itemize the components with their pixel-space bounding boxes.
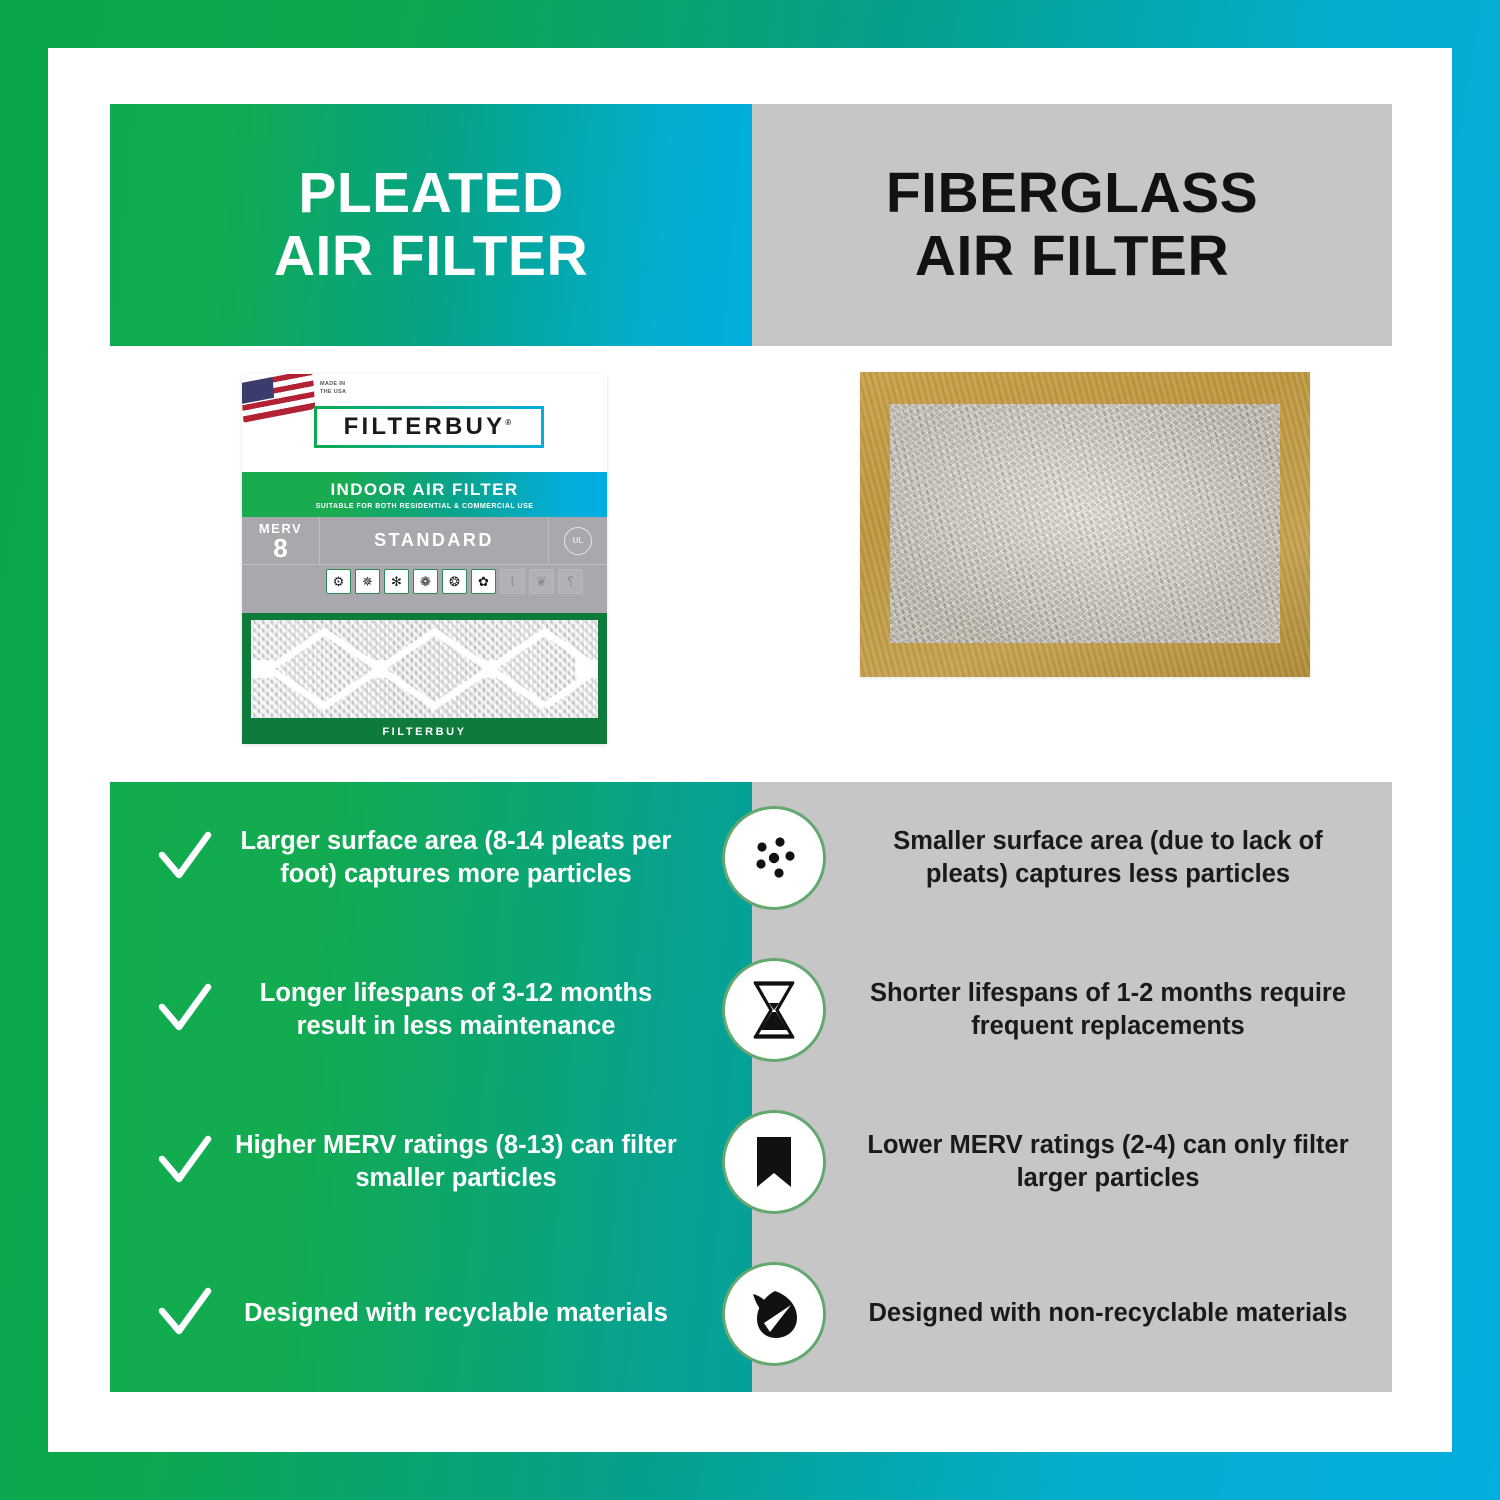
- ul-mark-icon: UL: [564, 527, 592, 555]
- row-left-cell: Designed with recyclable materials: [110, 1238, 752, 1390]
- pet-dander-icon: ✿: [471, 569, 496, 594]
- row-icon-badge: [722, 806, 826, 910]
- comparison-rows: Larger surface area (8-14 pleats per foo…: [110, 782, 1392, 1392]
- header-pleated-line2: AIR FILTER: [274, 225, 588, 288]
- fiberglass-mesh-media: [890, 404, 1280, 643]
- pleated-filter-product: MADE IN THE USA FILTERBUY® INDOOR AIR FI…: [242, 374, 607, 754]
- header-fiberglass: FIBERGLASS AIR FILTER: [752, 104, 1392, 346]
- row-left-cell: Larger surface area (8-14 pleats per foo…: [110, 782, 752, 934]
- product-image-row: MADE IN THE USA FILTERBUY® INDOOR AIR FI…: [110, 346, 1392, 782]
- fiberglass-cardboard-frame: [860, 372, 1310, 677]
- virus-icon: ⸮: [558, 569, 583, 594]
- leaf-icon: [745, 1285, 803, 1343]
- header-pleated-line1: PLEATED: [298, 161, 563, 225]
- check-icon: [148, 981, 222, 1039]
- row-right-text: Shorter lifespans of 1-2 months require …: [862, 977, 1392, 1043]
- row-right-text: Designed with non-recyclable materials: [862, 1297, 1392, 1330]
- row-left-cell: Higher MERV ratings (8-13) can filter sm…: [110, 1086, 752, 1238]
- dust-mite-icon: ✵: [355, 569, 380, 594]
- band-subtitle: SUITABLE FOR BOTH RESIDENTIAL & COMMERCI…: [316, 503, 534, 510]
- hourglass-icon: [751, 980, 797, 1040]
- fiberglass-filter-product: [860, 372, 1310, 677]
- row-right-cell: Shorter lifespans of 1-2 months require …: [752, 934, 1392, 1086]
- pleat-brand-label: FILTERBUY: [242, 726, 607, 738]
- header-pleated-title: PLEATED AIR FILTER: [274, 162, 588, 287]
- row-right-cell: Smaller surface area (due to lack of ple…: [752, 782, 1392, 934]
- indoor-air-filter-band: INDOOR AIR FILTER SUITABLE FOR BOTH RESI…: [242, 472, 607, 517]
- row-left-text: Designed with recyclable materials: [222, 1297, 752, 1330]
- check-icon: [148, 1133, 222, 1191]
- header-fiberglass-line2: AIR FILTER: [886, 225, 1258, 288]
- merv-cell: MERV 8: [242, 517, 320, 564]
- lint-icon: ❂: [442, 569, 467, 594]
- smoke-icon: ⌇: [500, 569, 525, 594]
- ul-certification: UL: [549, 517, 607, 564]
- made-in-line1: MADE IN: [320, 380, 346, 388]
- row-right-text: Lower MERV ratings (2-4) can only filter…: [862, 1129, 1392, 1195]
- pleated-media-view: FILTERBUY: [242, 613, 607, 744]
- row-left-text: Longer lifespans of 3-12 months result i…: [222, 977, 752, 1043]
- row-left-text: Larger surface area (8-14 pleats per foo…: [222, 825, 752, 891]
- vacuum-icon: ⚙: [326, 569, 351, 594]
- header-pleated: PLEATED AIR FILTER: [110, 104, 752, 346]
- us-flag-icon: [242, 374, 315, 423]
- header-band: PLEATED AIR FILTER FIBERGLASS AIR FILTER: [110, 104, 1392, 346]
- box-top-section: MADE IN THE USA FILTERBUY®: [242, 374, 607, 472]
- feature-icon-row: ⚙✵✻❁❂✿⌇❦⸮: [242, 565, 607, 613]
- row-icon-badge: [722, 958, 826, 1062]
- row-right-cell: Designed with non-recyclable materials: [752, 1238, 1392, 1390]
- box-spec-row: MERV 8 STANDARD UL: [242, 517, 607, 565]
- pleat-texture: [251, 620, 598, 718]
- infographic-content: PLEATED AIR FILTER FIBERGLASS AIR FILTER…: [110, 104, 1392, 1392]
- made-in-usa-label: MADE IN THE USA: [320, 380, 346, 397]
- bookmark-icon: [754, 1135, 794, 1189]
- row-icon-badge: [722, 1262, 826, 1366]
- particles-icon: [743, 827, 805, 889]
- filterbuy-logo-box: FILTERBUY®: [314, 406, 544, 448]
- band-title: INDOOR AIR FILTER: [330, 480, 518, 500]
- header-fiberglass-line1: FIBERGLASS: [886, 161, 1258, 225]
- pollen-icon: ✻: [384, 569, 409, 594]
- row-icon-badge: [722, 1110, 826, 1214]
- made-in-line2: THE USA: [320, 388, 346, 396]
- box-spec-section: MERV 8 STANDARD UL ⚙✵✻❁❂✿⌇❦⸮: [242, 517, 607, 613]
- row-right-cell: Lower MERV ratings (2-4) can only filter…: [752, 1086, 1392, 1238]
- row-right-text: Smaller surface area (due to lack of ple…: [862, 825, 1392, 891]
- row-left-cell: Longer lifespans of 3-12 months result i…: [110, 934, 752, 1086]
- mold-icon: ❁: [413, 569, 438, 594]
- filterbuy-logo-text: FILTERBUY®: [344, 413, 515, 441]
- header-fiberglass-title: FIBERGLASS AIR FILTER: [886, 162, 1258, 287]
- bacteria-icon: ❦: [529, 569, 554, 594]
- row-left-text: Higher MERV ratings (8-13) can filter sm…: [222, 1129, 752, 1195]
- merv-value: 8: [273, 536, 287, 561]
- check-icon: [148, 1285, 222, 1343]
- grade-label: STANDARD: [320, 517, 549, 564]
- check-icon: [148, 829, 222, 887]
- support-grid-icon: [251, 620, 598, 718]
- filterbuy-box: MADE IN THE USA FILTERBUY® INDOOR AIR FI…: [242, 374, 607, 744]
